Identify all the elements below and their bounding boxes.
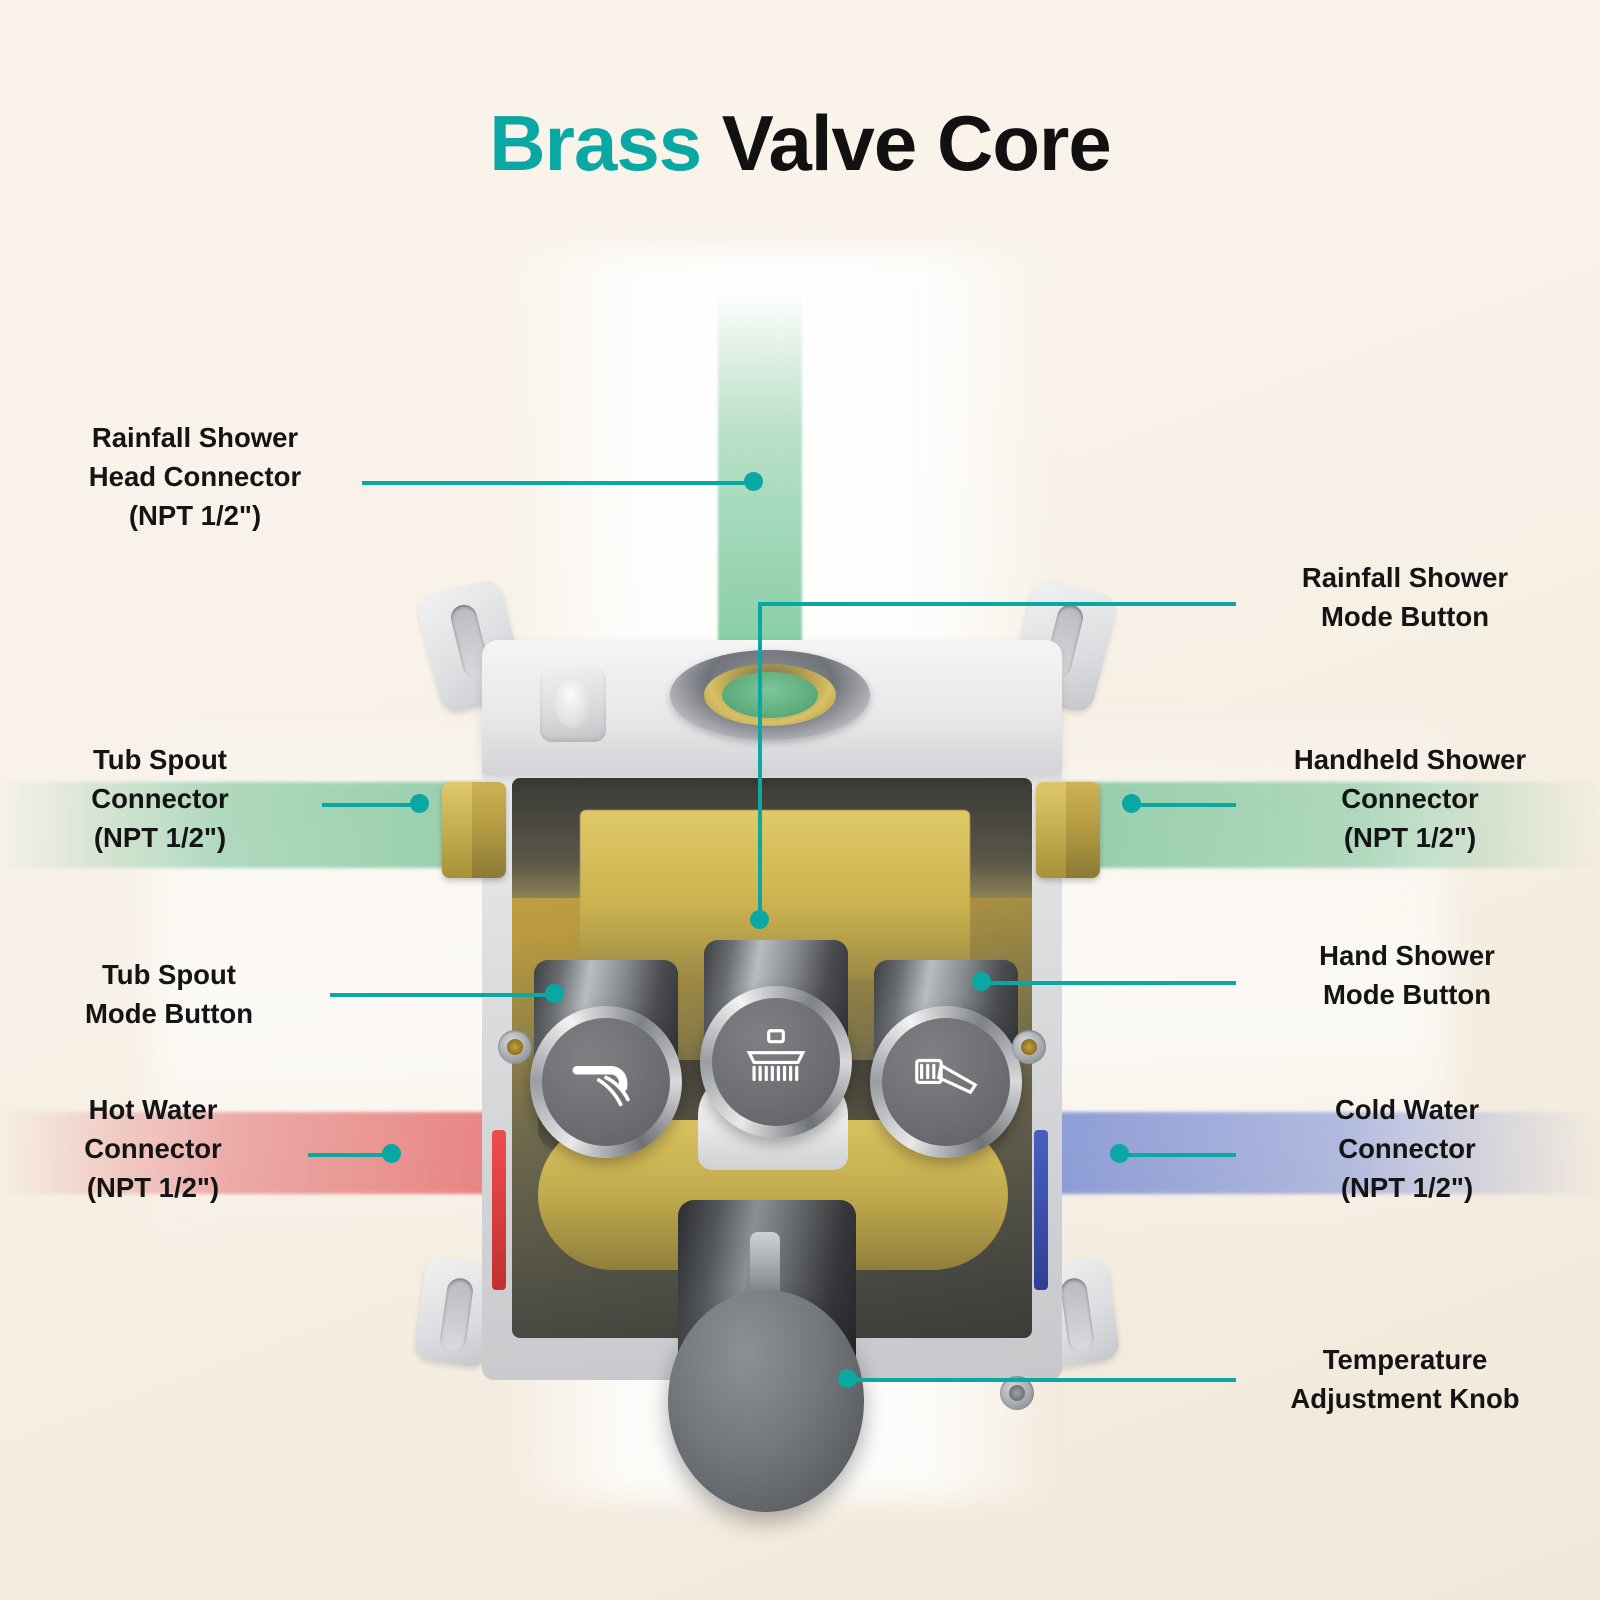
- label-line: Connector: [1240, 779, 1580, 818]
- title-accent-word: Brass: [489, 99, 701, 187]
- label-line: (NPT 1/2"): [30, 496, 360, 535]
- leader-rainfall-connector: [362, 481, 754, 485]
- label-line: Adjustment Knob: [1230, 1379, 1580, 1418]
- label-rainfall-shower-head-connector: Rainfall Shower Head Connector (NPT 1/2"…: [30, 418, 360, 535]
- label-line: Connector: [1244, 1129, 1570, 1168]
- label-tub-spout-mode-button: Tub Spout Mode Button: [10, 955, 328, 1033]
- top-boss-plug: [540, 668, 606, 742]
- page-title: Brass Valve Core: [0, 98, 1600, 189]
- label-cold-water-connector: Cold Water Connector (NPT 1/2"): [1244, 1090, 1570, 1207]
- rainfall-showerhead-icon: [737, 1021, 815, 1104]
- label-line: (NPT 1/2"): [1240, 818, 1580, 857]
- label-line: Tub Spout: [10, 955, 328, 994]
- label-line: Mode Button: [1242, 975, 1572, 1014]
- leader-dot-hand-shower-button: [972, 972, 991, 991]
- label-line: (NPT 1/2"): [1244, 1168, 1570, 1207]
- label-tub-spout-connector: Tub Spout Connector (NPT 1/2"): [0, 740, 320, 857]
- leader-handheld-connector: [1130, 803, 1236, 807]
- label-line: Hand Shower: [1242, 936, 1572, 975]
- label-temperature-adjustment-knob: Temperature Adjustment Knob: [1230, 1340, 1580, 1418]
- label-hot-water-connector: Hot Water Connector (NPT 1/2"): [0, 1090, 306, 1207]
- label-line: Mode Button: [1240, 597, 1570, 636]
- label-hand-shower-mode-button: Hand Shower Mode Button: [1242, 936, 1572, 1014]
- port-cap: [1036, 782, 1066, 878]
- leader-dot-tub-spout-button: [545, 984, 564, 1003]
- handheld-shower-port: [1036, 782, 1100, 878]
- leader-hand-shower-button: [980, 981, 1236, 985]
- housing-screw-right: [1012, 1030, 1046, 1064]
- leader-dot-rainfall-connector: [744, 472, 763, 491]
- label-line: Mode Button: [10, 994, 328, 1033]
- leader-dot-hot-water-connector: [382, 1144, 401, 1163]
- hot-water-inlet-indicator: [492, 1130, 506, 1290]
- outlet-bore: [722, 672, 818, 718]
- leader-dot-temperature-knob: [838, 1369, 857, 1388]
- tub-spout-icon: [567, 1041, 645, 1124]
- screw-hole: [507, 1039, 523, 1055]
- label-line: (NPT 1/2"): [0, 1168, 306, 1207]
- leader-tub-spout-connector: [322, 803, 422, 807]
- label-line: Rainfall Shower: [1240, 558, 1570, 597]
- leader-tub-spout-button: [330, 993, 558, 997]
- button-face: [542, 1018, 670, 1146]
- leader-temperature-knob: [846, 1378, 1236, 1382]
- rainfall-shower-mode-button[interactable]: [700, 940, 852, 1110]
- label-line: Handheld Shower: [1240, 740, 1580, 779]
- label-line: Connector: [0, 1129, 306, 1168]
- mounting-slot: [439, 1277, 475, 1354]
- label-line: Rainfall Shower: [30, 418, 360, 457]
- leader-rainfall-button-horizontal: [758, 602, 1236, 606]
- brass-valve-core-illustration: [420, 560, 1120, 1460]
- hand-shower-icon: [907, 1041, 985, 1124]
- leader-dot-cold-water-connector: [1110, 1144, 1129, 1163]
- tub-spout-port: [442, 782, 506, 878]
- boss-pin: [554, 680, 592, 728]
- housing-screw-left: [498, 1030, 532, 1064]
- rainfall-outlet-port: [670, 650, 870, 740]
- screw-hole: [1009, 1385, 1025, 1401]
- label-line: Cold Water: [1244, 1090, 1570, 1129]
- button-face: [712, 998, 840, 1126]
- leader-rainfall-button-vertical: [758, 602, 762, 920]
- label-handheld-shower-connector: Handheld Shower Connector (NPT 1/2"): [1240, 740, 1580, 857]
- label-line: Tub Spout: [0, 740, 320, 779]
- cold-water-inlet-indicator: [1034, 1130, 1048, 1290]
- leader-cold-water-connector: [1118, 1153, 1236, 1157]
- label-line: (NPT 1/2"): [0, 818, 320, 857]
- leader-dot-handheld-connector: [1122, 794, 1141, 813]
- hand-shower-mode-button[interactable]: [870, 960, 1022, 1130]
- leader-dot-tub-spout-connector: [410, 794, 429, 813]
- title-rest: Valve Core: [701, 99, 1111, 187]
- port-cap: [442, 782, 472, 878]
- label-line: Temperature: [1230, 1340, 1580, 1379]
- label-line: Head Connector: [30, 457, 360, 496]
- mounting-slot: [1059, 1277, 1095, 1354]
- label-rainfall-shower-mode-button: Rainfall Shower Mode Button: [1240, 558, 1570, 636]
- button-face: [882, 1018, 1010, 1146]
- label-line: Connector: [0, 779, 320, 818]
- temperature-adjustment-knob[interactable]: [668, 1290, 864, 1512]
- leader-dot-rainfall-button: [750, 910, 769, 929]
- screw-hole: [1021, 1039, 1037, 1055]
- label-line: Hot Water: [0, 1090, 306, 1129]
